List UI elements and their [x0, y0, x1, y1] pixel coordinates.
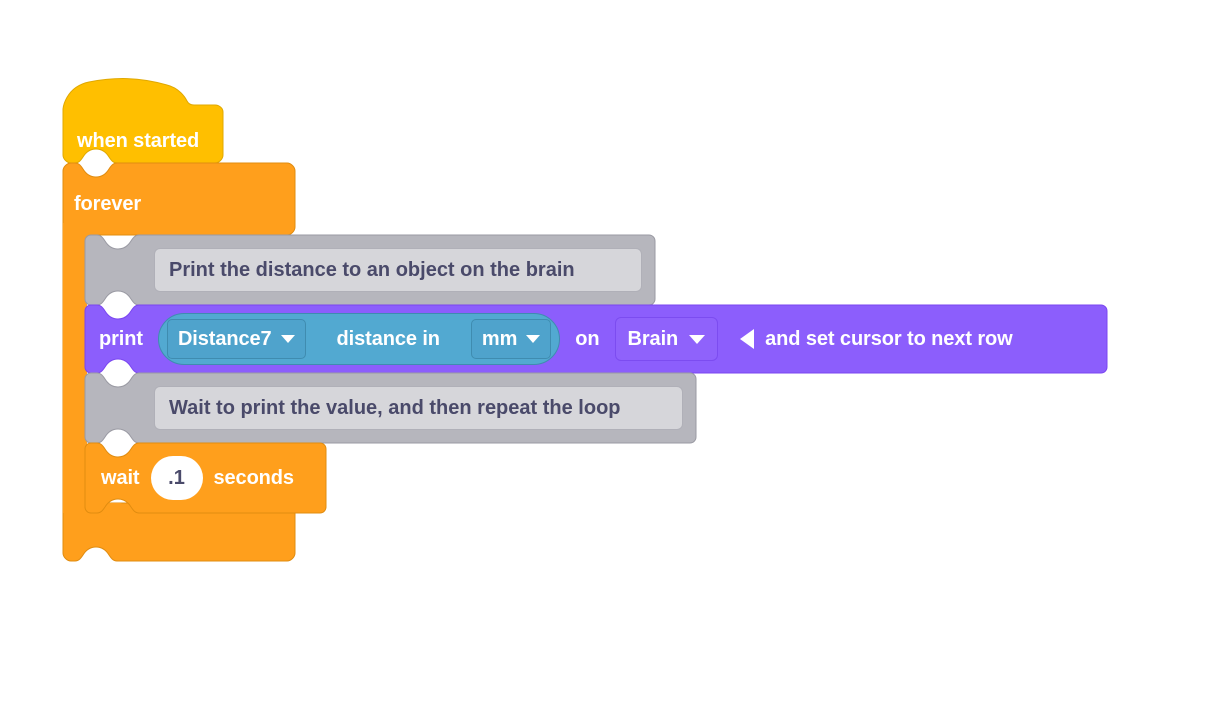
- block-print-on-brain[interactable]: print Distance7 distance in mm on: [85, 305, 1107, 373]
- blocks-workspace[interactable]: when started forever Print the distance …: [0, 0, 1216, 606]
- chevron-down-icon: [526, 335, 540, 343]
- forever-label: forever: [74, 194, 141, 214]
- dropdown-units[interactable]: mm: [471, 319, 551, 359]
- block-comment-wait-repeat[interactable]: Wait to print the value, and then repeat…: [85, 373, 696, 443]
- block-wait-seconds[interactable]: wait .1 seconds: [85, 443, 326, 513]
- dropdown-units-value: mm: [482, 329, 517, 349]
- dropdown-device-value: Distance7: [178, 329, 272, 349]
- wait-duration-input[interactable]: .1: [151, 456, 203, 500]
- newline-label: and set cursor to next row: [765, 329, 1012, 349]
- wait-duration-value: .1: [168, 468, 185, 488]
- block-when-started[interactable]: when started: [63, 77, 223, 163]
- print-block-content: print Distance7 distance in mm on: [85, 305, 1013, 373]
- print-label: print: [99, 329, 143, 349]
- comment-text-area[interactable]: Print the distance to an object on the b…: [154, 248, 642, 292]
- wait-units-label: seconds: [214, 468, 294, 488]
- dropdown-device[interactable]: Distance7: [167, 319, 306, 359]
- reporter-middle-label: distance in: [337, 329, 440, 349]
- chevron-down-icon: [281, 335, 295, 343]
- block-comment-print-distance[interactable]: Print the distance to an object on the b…: [85, 235, 655, 305]
- chevron-down-icon: [689, 335, 705, 344]
- reporter-distance-sensor[interactable]: Distance7 distance in mm: [158, 313, 560, 365]
- dropdown-print-target[interactable]: Brain: [615, 317, 719, 361]
- dropdown-print-target-value: Brain: [628, 329, 679, 349]
- on-label: on: [575, 329, 599, 349]
- when-started-label: when started: [77, 131, 199, 151]
- loop-arrow-icon: [246, 681, 272, 707]
- comment-text-area[interactable]: Wait to print the value, and then repeat…: [154, 386, 683, 430]
- wait-label: wait: [101, 468, 140, 488]
- comment-text: Print the distance to an object on the b…: [169, 260, 575, 280]
- wait-block-content: wait .1 seconds: [85, 443, 294, 513]
- triangle-left-icon[interactable]: [740, 329, 754, 349]
- comment-text: Wait to print the value, and then repeat…: [169, 398, 621, 418]
